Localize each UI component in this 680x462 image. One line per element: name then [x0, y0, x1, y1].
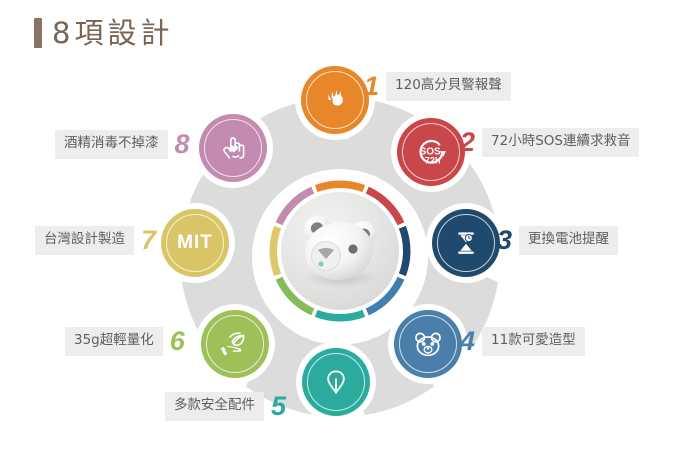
leaf-in-hand-icon [218, 327, 252, 361]
feature-label-3: 3更換電池提醒 [497, 226, 618, 255]
feature-number-5: 5 [271, 393, 286, 420]
feature-number-7: 7 [141, 227, 156, 254]
feature-number-3: 3 [497, 227, 512, 254]
feature-node-2[interactable]: SOS 72h [397, 118, 465, 186]
feature-node-7[interactable]: MIT [161, 209, 229, 277]
feature-text-6: 35g超輕量化 [65, 327, 163, 356]
mit-label: MIT [177, 232, 213, 254]
feature-node-8[interactable] [199, 114, 267, 182]
feature-text-8: 酒精消毒不掉漆 [55, 130, 168, 159]
feature-text-2: 72小時SOS連續求救音 [482, 128, 639, 157]
feature-node-4[interactable] [394, 310, 462, 378]
balloon-pin-icon [319, 365, 353, 399]
feature-number-2: 2 [460, 129, 475, 156]
feature-text-3: 更換電池提醒 [519, 226, 618, 255]
feature-node-6[interactable] [201, 310, 269, 378]
feature-number-1: 1 [364, 73, 379, 100]
feature-text-7: 台灣設計製造 [35, 226, 134, 255]
alarm-sound-waves-icon [318, 83, 352, 117]
page-title: 8項設計 [34, 18, 173, 48]
feature-label-5: 多款安全配件5 [165, 392, 286, 421]
feature-label-8: 酒精消毒不掉漆8 [55, 130, 190, 159]
washing-hands-heart-icon [216, 131, 250, 165]
product-photo [281, 192, 399, 310]
feature-label-1: 1120高分貝警報聲 [364, 72, 511, 101]
feature-label-7: 台灣設計製造7 [35, 226, 156, 255]
feature-text-4: 11款可愛造型 [482, 327, 585, 356]
feature-number-8: 8 [175, 131, 190, 158]
feature-label-6: 35g超輕量化6 [65, 327, 185, 356]
feature-node-5[interactable] [302, 348, 370, 416]
hourglass-timer-icon [449, 226, 483, 260]
feature-label-2: 272小時SOS連續求救音 [460, 128, 639, 157]
feature-node-1[interactable] [301, 66, 369, 134]
sos-72h-icon: SOS 72h [411, 132, 451, 172]
infographic-canvas: 8項設計 [0, 0, 680, 462]
feature-text-5: 多款安全配件 [165, 392, 264, 421]
bear-face-icon [411, 327, 445, 361]
center-product [266, 177, 414, 325]
feature-number-6: 6 [170, 328, 185, 355]
feature-label-4: 411款可愛造型 [460, 327, 585, 356]
feature-node-3[interactable] [432, 209, 500, 277]
page-title-text: 8項設計 [52, 19, 173, 48]
feature-text-1: 120高分貝警報聲 [386, 72, 511, 101]
feature-number-4: 4 [460, 328, 475, 355]
title-accent-bar [34, 18, 42, 48]
svg-text:72h: 72h [425, 156, 441, 166]
